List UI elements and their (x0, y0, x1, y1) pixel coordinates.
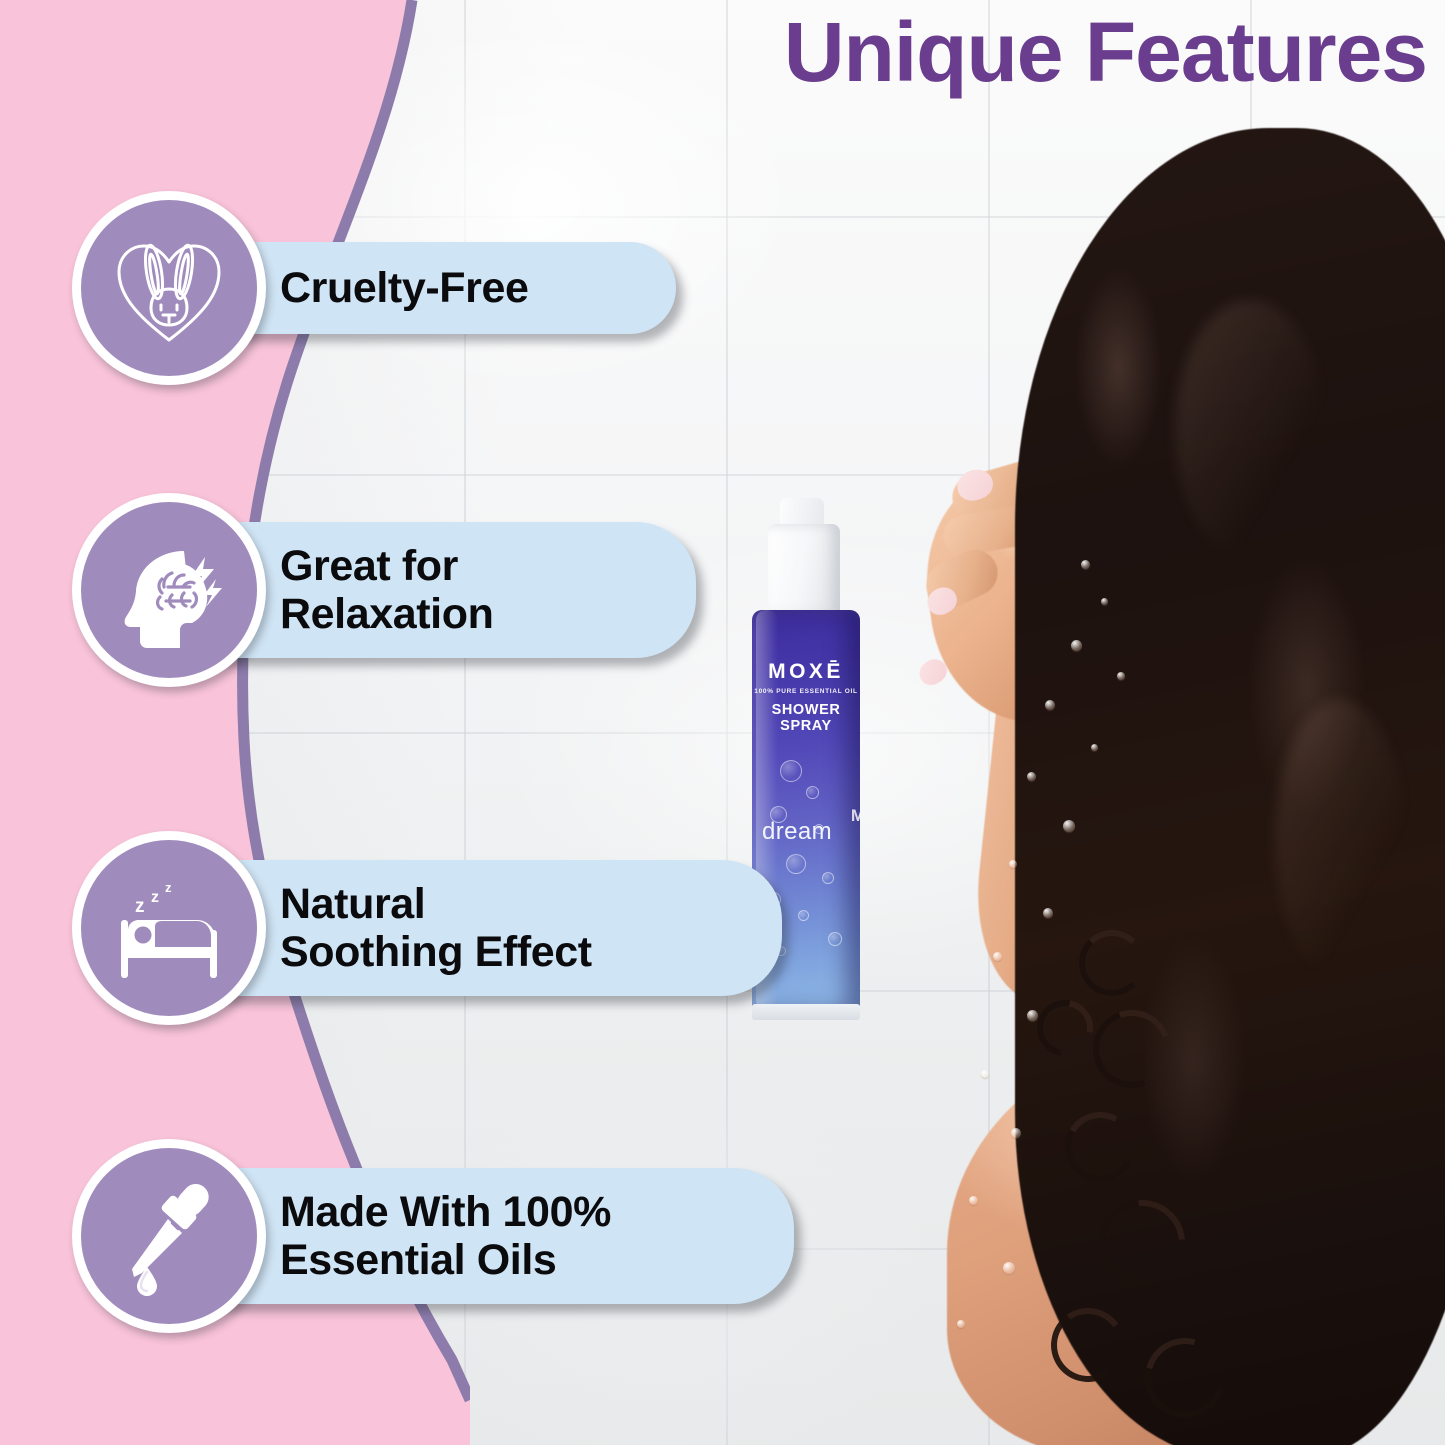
feature-row-cruelty-free[interactable]: Cruelty-Free (72, 191, 702, 385)
feature-badge-relaxation[interactable] (72, 493, 266, 687)
woman-figure (885, 0, 1445, 1445)
feature-label: Natural Soothing Effect (280, 880, 592, 976)
feature-badge-soothing[interactable]: z z z (72, 831, 266, 1025)
water-droplet (1043, 908, 1053, 918)
feature-label: Great for Relaxation (280, 542, 493, 638)
water-droplet (1063, 820, 1075, 832)
water-droplet (1117, 672, 1125, 680)
bed-sleeping-icon: z z z (105, 864, 233, 992)
page-title: Unique Features (784, 10, 1427, 94)
feature-list: Cruelty-Free (0, 0, 880, 1445)
bunny-in-heart-icon (105, 224, 233, 352)
water-droplet (1027, 1010, 1038, 1021)
feature-badge-essential-oils[interactable] (72, 1139, 266, 1333)
feature-label: Cruelty-Free (280, 264, 529, 312)
svg-text:z: z (151, 889, 159, 906)
infographic-canvas: MOXĒ 100% PURE ESSENTIAL OIL SHOWER SPRA… (0, 0, 1445, 1445)
feature-row-relaxation[interactable]: Great for Relaxation (72, 493, 722, 687)
feature-label: Made With 100% Essential Oils (280, 1188, 611, 1284)
water-droplet (993, 952, 1002, 961)
svg-text:z: z (165, 880, 172, 895)
water-droplet (957, 1320, 965, 1328)
water-droplet (1045, 700, 1055, 710)
water-droplet (981, 1070, 989, 1078)
hair-highlight-2 (1275, 700, 1405, 980)
water-droplet (1011, 1128, 1021, 1138)
water-droplet (1009, 860, 1017, 868)
feature-row-essential-oils[interactable]: Made With 100% Essential Oils (72, 1139, 822, 1333)
feature-row-soothing[interactable]: Natural Soothing Effect (72, 831, 812, 1025)
water-droplet (1101, 598, 1108, 605)
dropper-pipette-icon (106, 1173, 232, 1299)
hair-highlight-1 (1175, 300, 1325, 560)
water-droplet (1071, 640, 1082, 651)
water-droplet (1091, 744, 1098, 751)
head-with-brain-icon (106, 527, 232, 653)
hair-curl-1 (1079, 930, 1145, 996)
water-droplet (1027, 772, 1036, 781)
water-droplet (969, 1196, 978, 1205)
svg-text:z: z (135, 896, 145, 917)
water-droplet (1003, 1262, 1015, 1274)
water-droplet (1081, 560, 1090, 569)
feature-badge-cruelty-free[interactable] (72, 191, 266, 385)
